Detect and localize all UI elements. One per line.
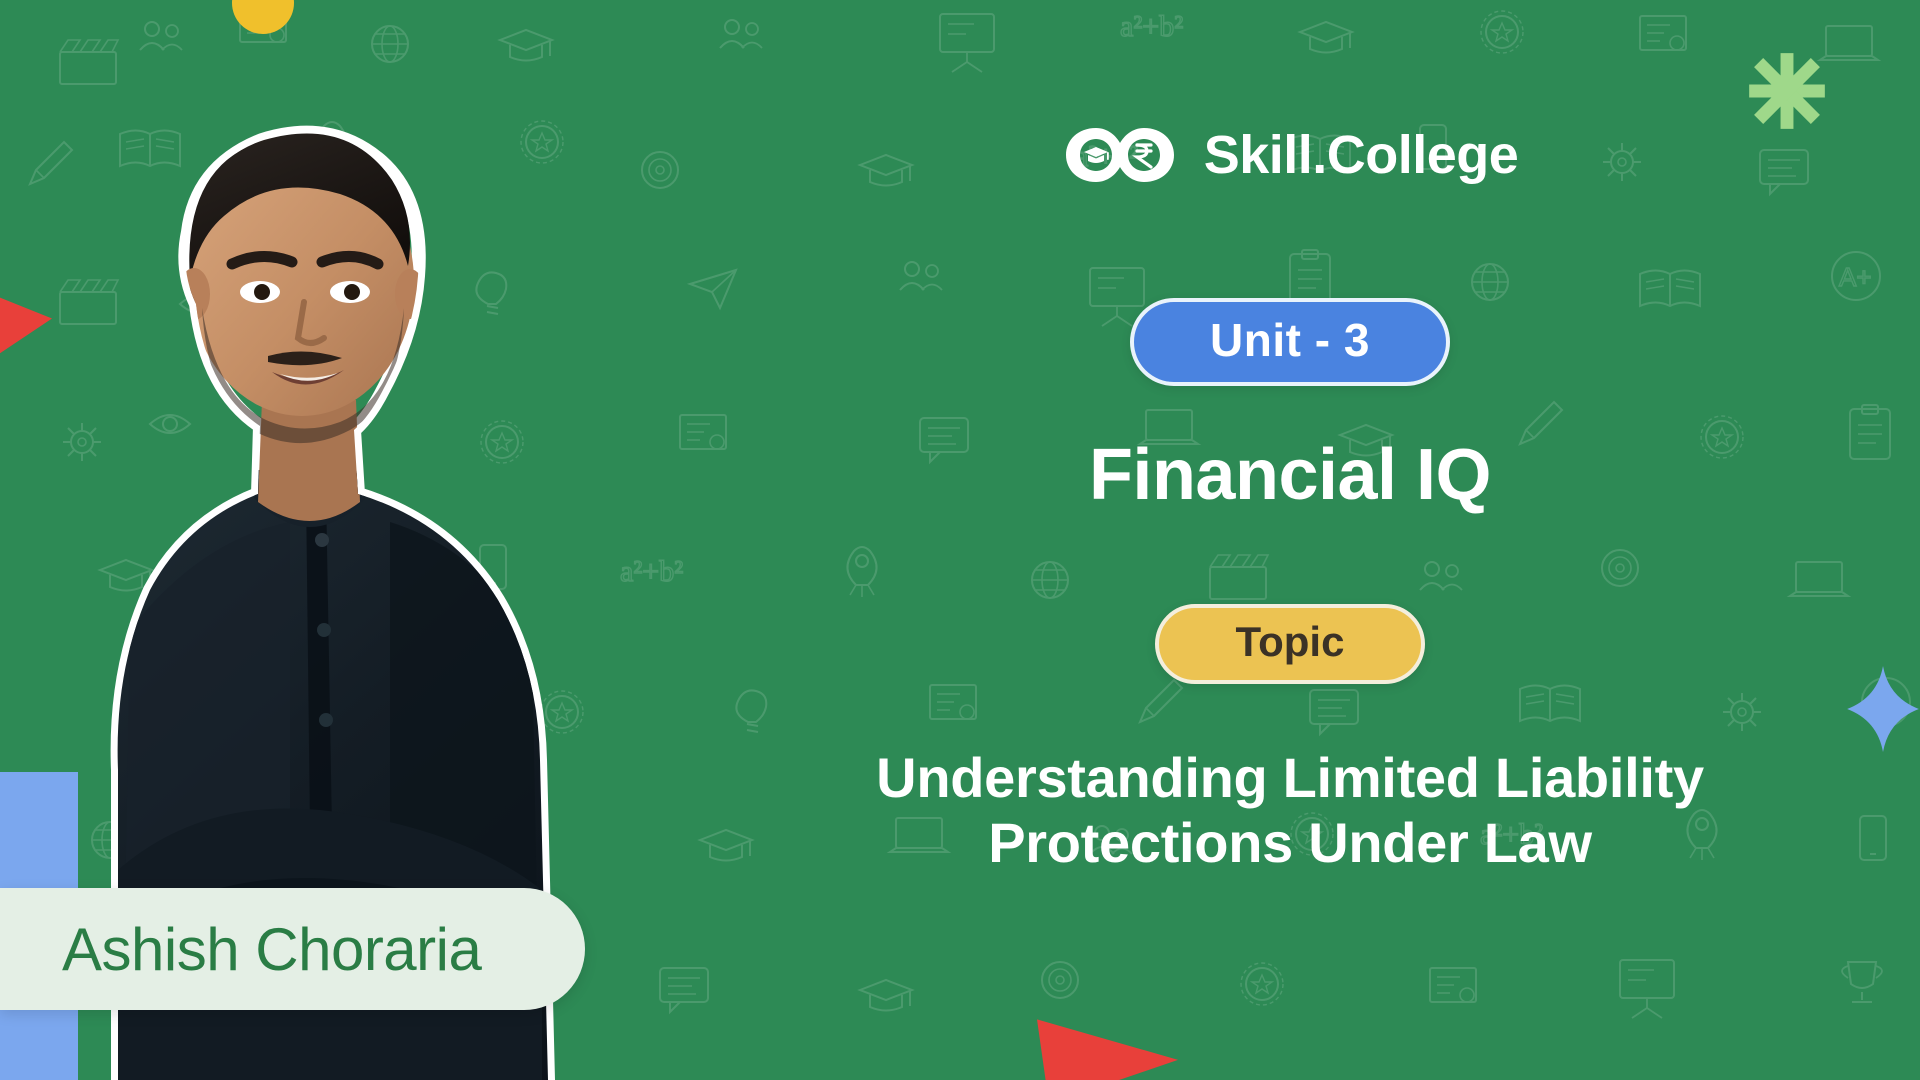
topic-badge-label: Topic	[1213, 620, 1367, 664]
slide-content-column: Skill.College Unit - 3 Financial IQ Topi…	[660, 0, 1920, 1080]
course-title: Financial IQ	[1089, 438, 1491, 514]
brand-name-text: Skill.College	[1204, 124, 1519, 186]
topic-badge[interactable]: Topic	[1155, 604, 1425, 684]
unit-badge-label: Unit - 3	[1180, 316, 1400, 364]
presenter-nameplate: Ashish Choraria	[0, 888, 585, 1010]
topic-title-line-1: Understanding Limited Liability	[785, 746, 1795, 811]
brand-logo: Skill.College	[1062, 122, 1519, 188]
topic-title-line-2: Protections Under Law	[785, 811, 1795, 876]
topic-title: Understanding Limited Liability Protecti…	[785, 746, 1795, 876]
unit-badge[interactable]: Unit - 3	[1130, 298, 1450, 386]
yellow-circle-decoration	[232, 0, 294, 34]
presenter-name: Ashish Choraria	[62, 915, 481, 984]
lecture-title-slide: a²+b²	[0, 0, 1920, 1080]
infinity-graduation-cap-rupee-logo-icon	[1062, 122, 1178, 188]
